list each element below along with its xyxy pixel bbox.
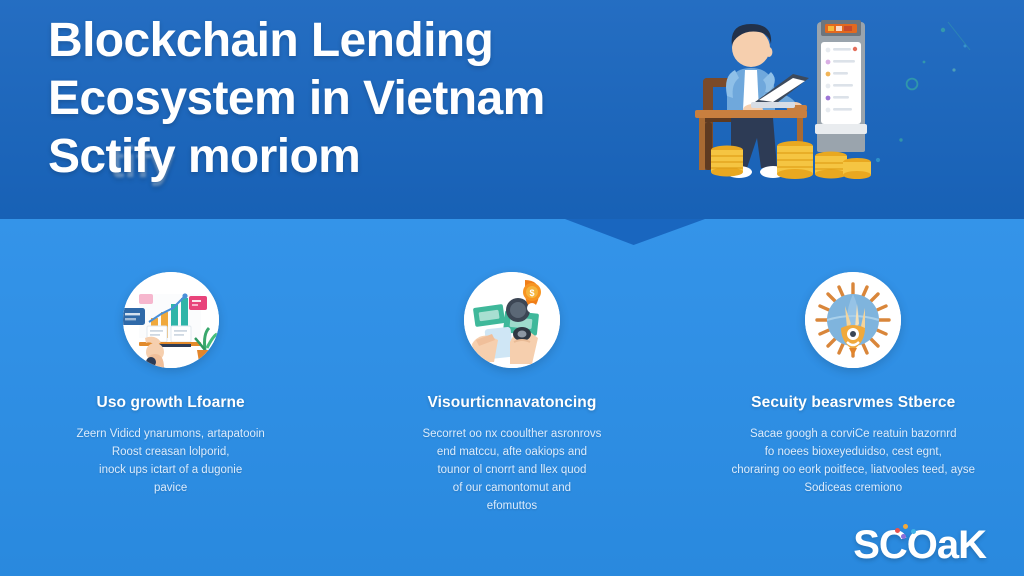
feature-body-1-line-1: Zeern Vidicd ynarumons, artapatooin	[26, 425, 316, 443]
feature-body-2-line-1: Secorret oo nx cooulther asronrovs	[367, 425, 657, 443]
hands-with-money-icon-svg: $	[464, 272, 560, 368]
mobile-kiosk-graphic	[815, 20, 867, 152]
feature-heading-1: Uso growth Lfoarne	[97, 394, 245, 412]
feature-body-2-line-3: tounor ol cnorrt and llex quod	[367, 461, 657, 479]
brand-logo-label: SCOaK	[853, 523, 986, 567]
hands-with-money-icon: $	[464, 272, 560, 368]
growth-chart-icon	[123, 272, 219, 368]
feature-body-3-line-1: Sacae googh a corviCe reatuin bazornrd	[708, 425, 998, 443]
feature-body-3-line-2: fo noees bioxeyeduidso, cest egnt,	[708, 443, 998, 461]
feature-body-2-line-2: end matccu, afte oakiops and	[367, 443, 657, 461]
feature-body-1: Zeern Vidicd ynarumons, artapatooin Roos…	[26, 425, 316, 497]
poster-canvas: Blockchain Lending Ecosystem in Vietnam …	[0, 0, 1024, 576]
secure-globe-shield-icon-svg	[805, 272, 901, 368]
feature-body-2: Secorret oo nx cooulther asronrovs end m…	[367, 425, 657, 515]
feature-heading-3: Secuity beasrvmes Stberce	[751, 394, 955, 412]
sparkle-dots-decor	[876, 22, 970, 162]
title-line-3-text: Sctify moriom	[48, 130, 360, 183]
growth-chart-icon-svg	[123, 272, 219, 368]
brand-logo[interactable]: SCOaK	[853, 523, 986, 568]
title-line-1: Blockchain Lending	[48, 12, 648, 70]
feature-columns: Uso growth Lfoarne Zeern Vidicd ynarumon…	[0, 272, 1024, 542]
svg-text:$: $	[529, 288, 534, 298]
feature-heading-2: Visourticnnavatoncing	[427, 394, 596, 412]
feature-body-1-line-2: Roost creasan lolporid,	[26, 443, 316, 461]
feature-body-2-line-4: of our camontomut and	[367, 479, 657, 497]
hero-illustration-svg	[665, 0, 1024, 219]
secure-globe-shield-icon	[805, 272, 901, 368]
brand-logo-text: SCOaK	[853, 523, 986, 568]
page-title: Blockchain Lending Ecosystem in Vietnam …	[48, 12, 648, 186]
feature-column-3: Secuity beasrvmes Stberce Sacae googh a …	[683, 272, 1024, 542]
feature-body-3-line-3: choraring oo eork poitfece, liatvooles t…	[708, 461, 998, 479]
feature-body-3: Sacae googh a corviCe reatuin bazornrd f…	[708, 425, 998, 497]
feature-body-1-line-3: inock ups ictart of a dugonie	[26, 461, 316, 479]
title-line-2: Ecosystem in Vietnam	[48, 70, 648, 128]
feature-body-2-line-5: efomuttos	[367, 497, 657, 515]
feature-column-1: Uso growth Lfoarne Zeern Vidicd ynarumon…	[0, 272, 341, 542]
feature-column-2: $ Visourticnnavatoncing Secorret oo nx c…	[341, 272, 682, 542]
header-notch-triangle	[565, 219, 705, 245]
feature-body-3-line-4: Sodiceas cremiono	[708, 479, 998, 497]
feature-body-1-line-4: pavice	[26, 479, 316, 497]
hero-illustration	[665, 0, 1024, 219]
title-line-3: tify Sctify moriom	[48, 128, 648, 186]
